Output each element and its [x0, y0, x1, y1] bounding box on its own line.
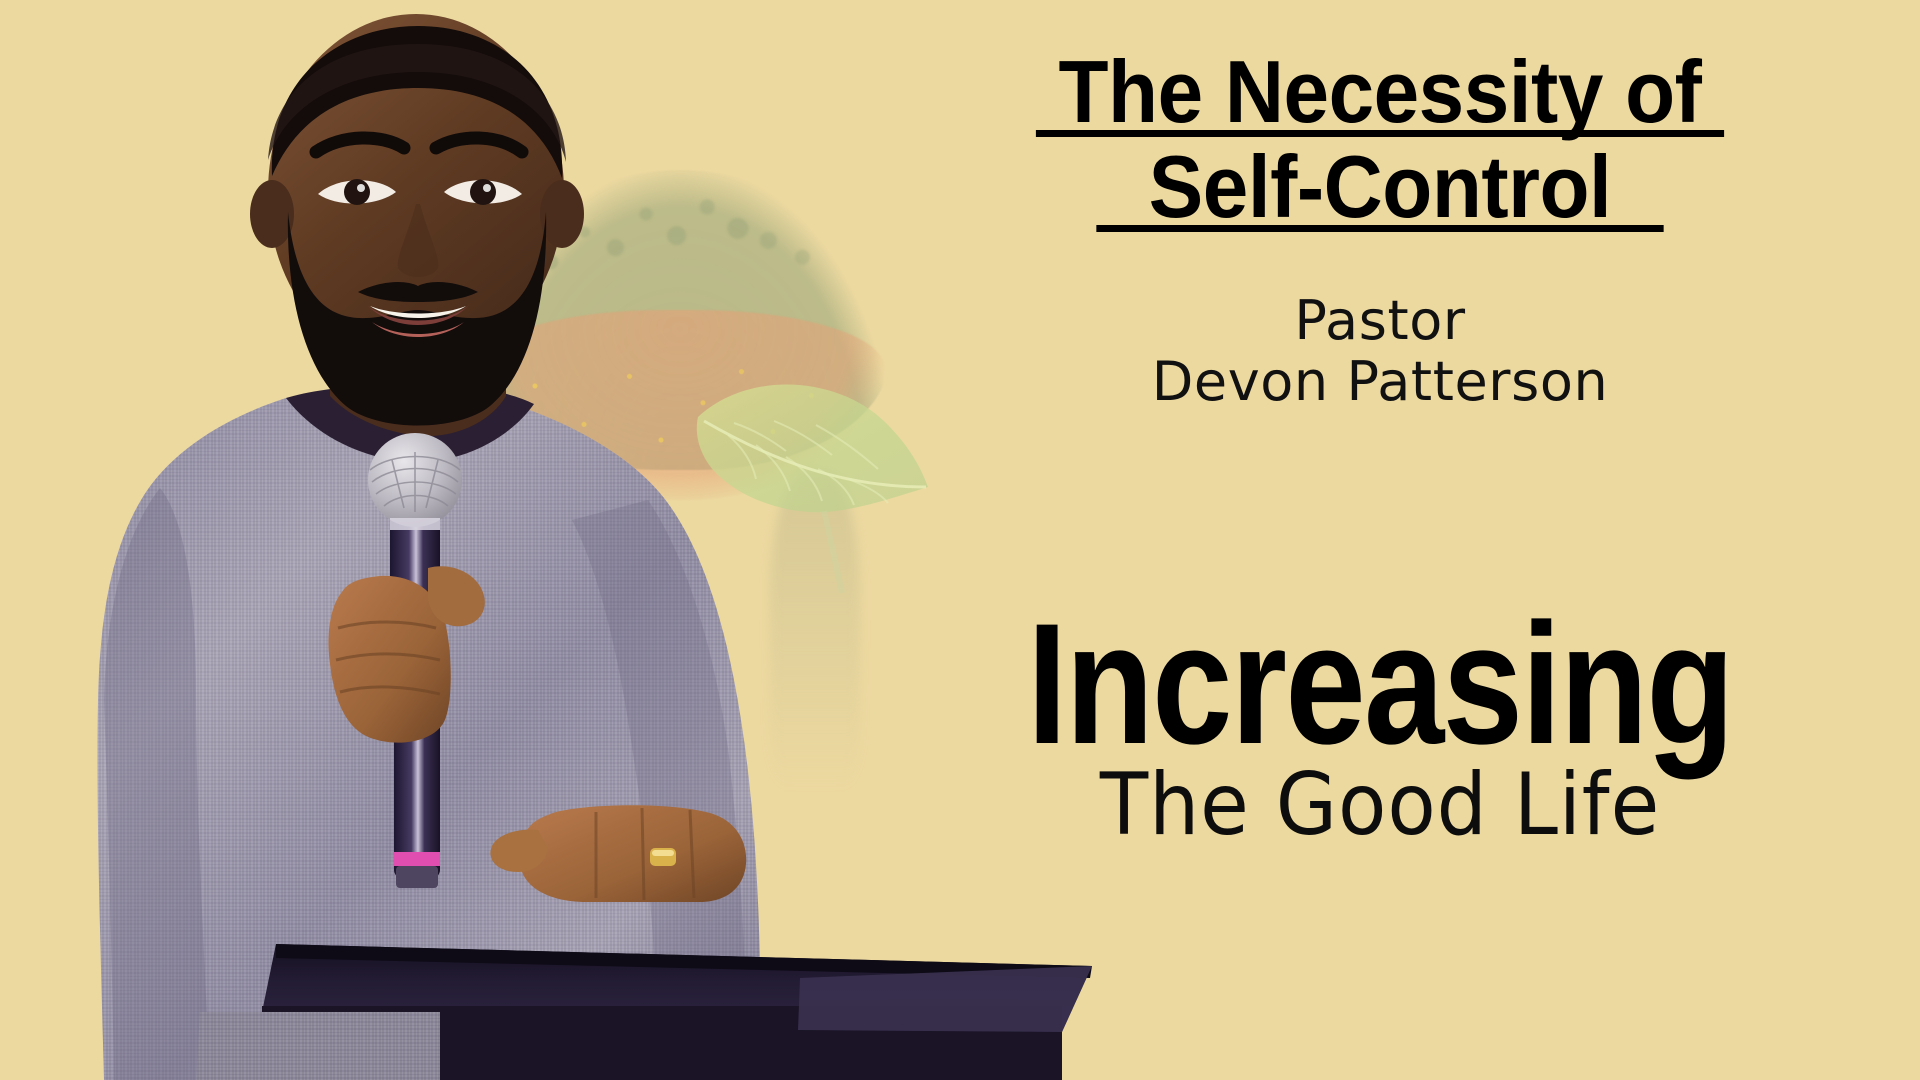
- speaker-role: Pastor: [880, 290, 1880, 351]
- sermon-title-slide: The Necessity of Self-Control Pastor Dev…: [0, 0, 1920, 1080]
- speaker-name: Devon Patterson: [880, 351, 1880, 412]
- series-name: Increasing: [960, 598, 1800, 770]
- sermon-title-line-1: The Necessity of: [915, 44, 1845, 139]
- sermon-title: The Necessity of Self-Control: [915, 44, 1845, 234]
- speaker-credit: Pastor Devon Patterson: [880, 290, 1880, 412]
- sermon-title-line-2: Self-Control: [915, 139, 1845, 234]
- text-content-column: The Necessity of Self-Control Pastor Dev…: [880, 0, 1920, 1080]
- series-tagline: The Good Life: [920, 762, 1840, 848]
